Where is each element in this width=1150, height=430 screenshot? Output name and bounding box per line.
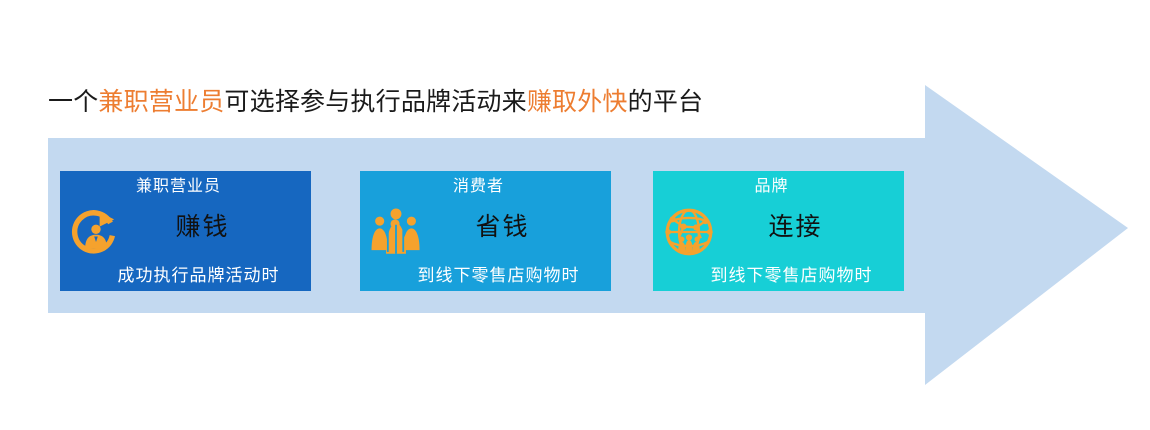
card-caption-label: 到线下零售店购物时 bbox=[653, 264, 904, 288]
card-caption-label: 到线下零售店购物时 bbox=[360, 264, 611, 288]
card-header-label: 品牌 bbox=[653, 176, 904, 198]
card-main-label: 省钱 bbox=[360, 211, 611, 245]
card-part-time-clerk[interactable]: 兼职营业员 赚钱 成功执行品牌活动时 bbox=[60, 171, 311, 291]
card-header-label: 兼职营业员 bbox=[60, 176, 311, 198]
card-header-label: 消费者 bbox=[360, 176, 611, 198]
card-main-label: 连接 bbox=[653, 211, 904, 245]
card-consumer[interactable]: 消费者 省钱 到线下零 bbox=[360, 171, 611, 291]
card-main-label: 赚钱 bbox=[60, 211, 311, 245]
card-caption-label: 成功执行品牌活动时 bbox=[60, 264, 311, 288]
card-brand[interactable]: 品牌 bbox=[653, 171, 904, 291]
slide-canvas: 一个兼职营业员可选择参与执行品牌活动来赚取外快的平台 兼职营业员 赚钱 成功执行… bbox=[0, 0, 1150, 430]
